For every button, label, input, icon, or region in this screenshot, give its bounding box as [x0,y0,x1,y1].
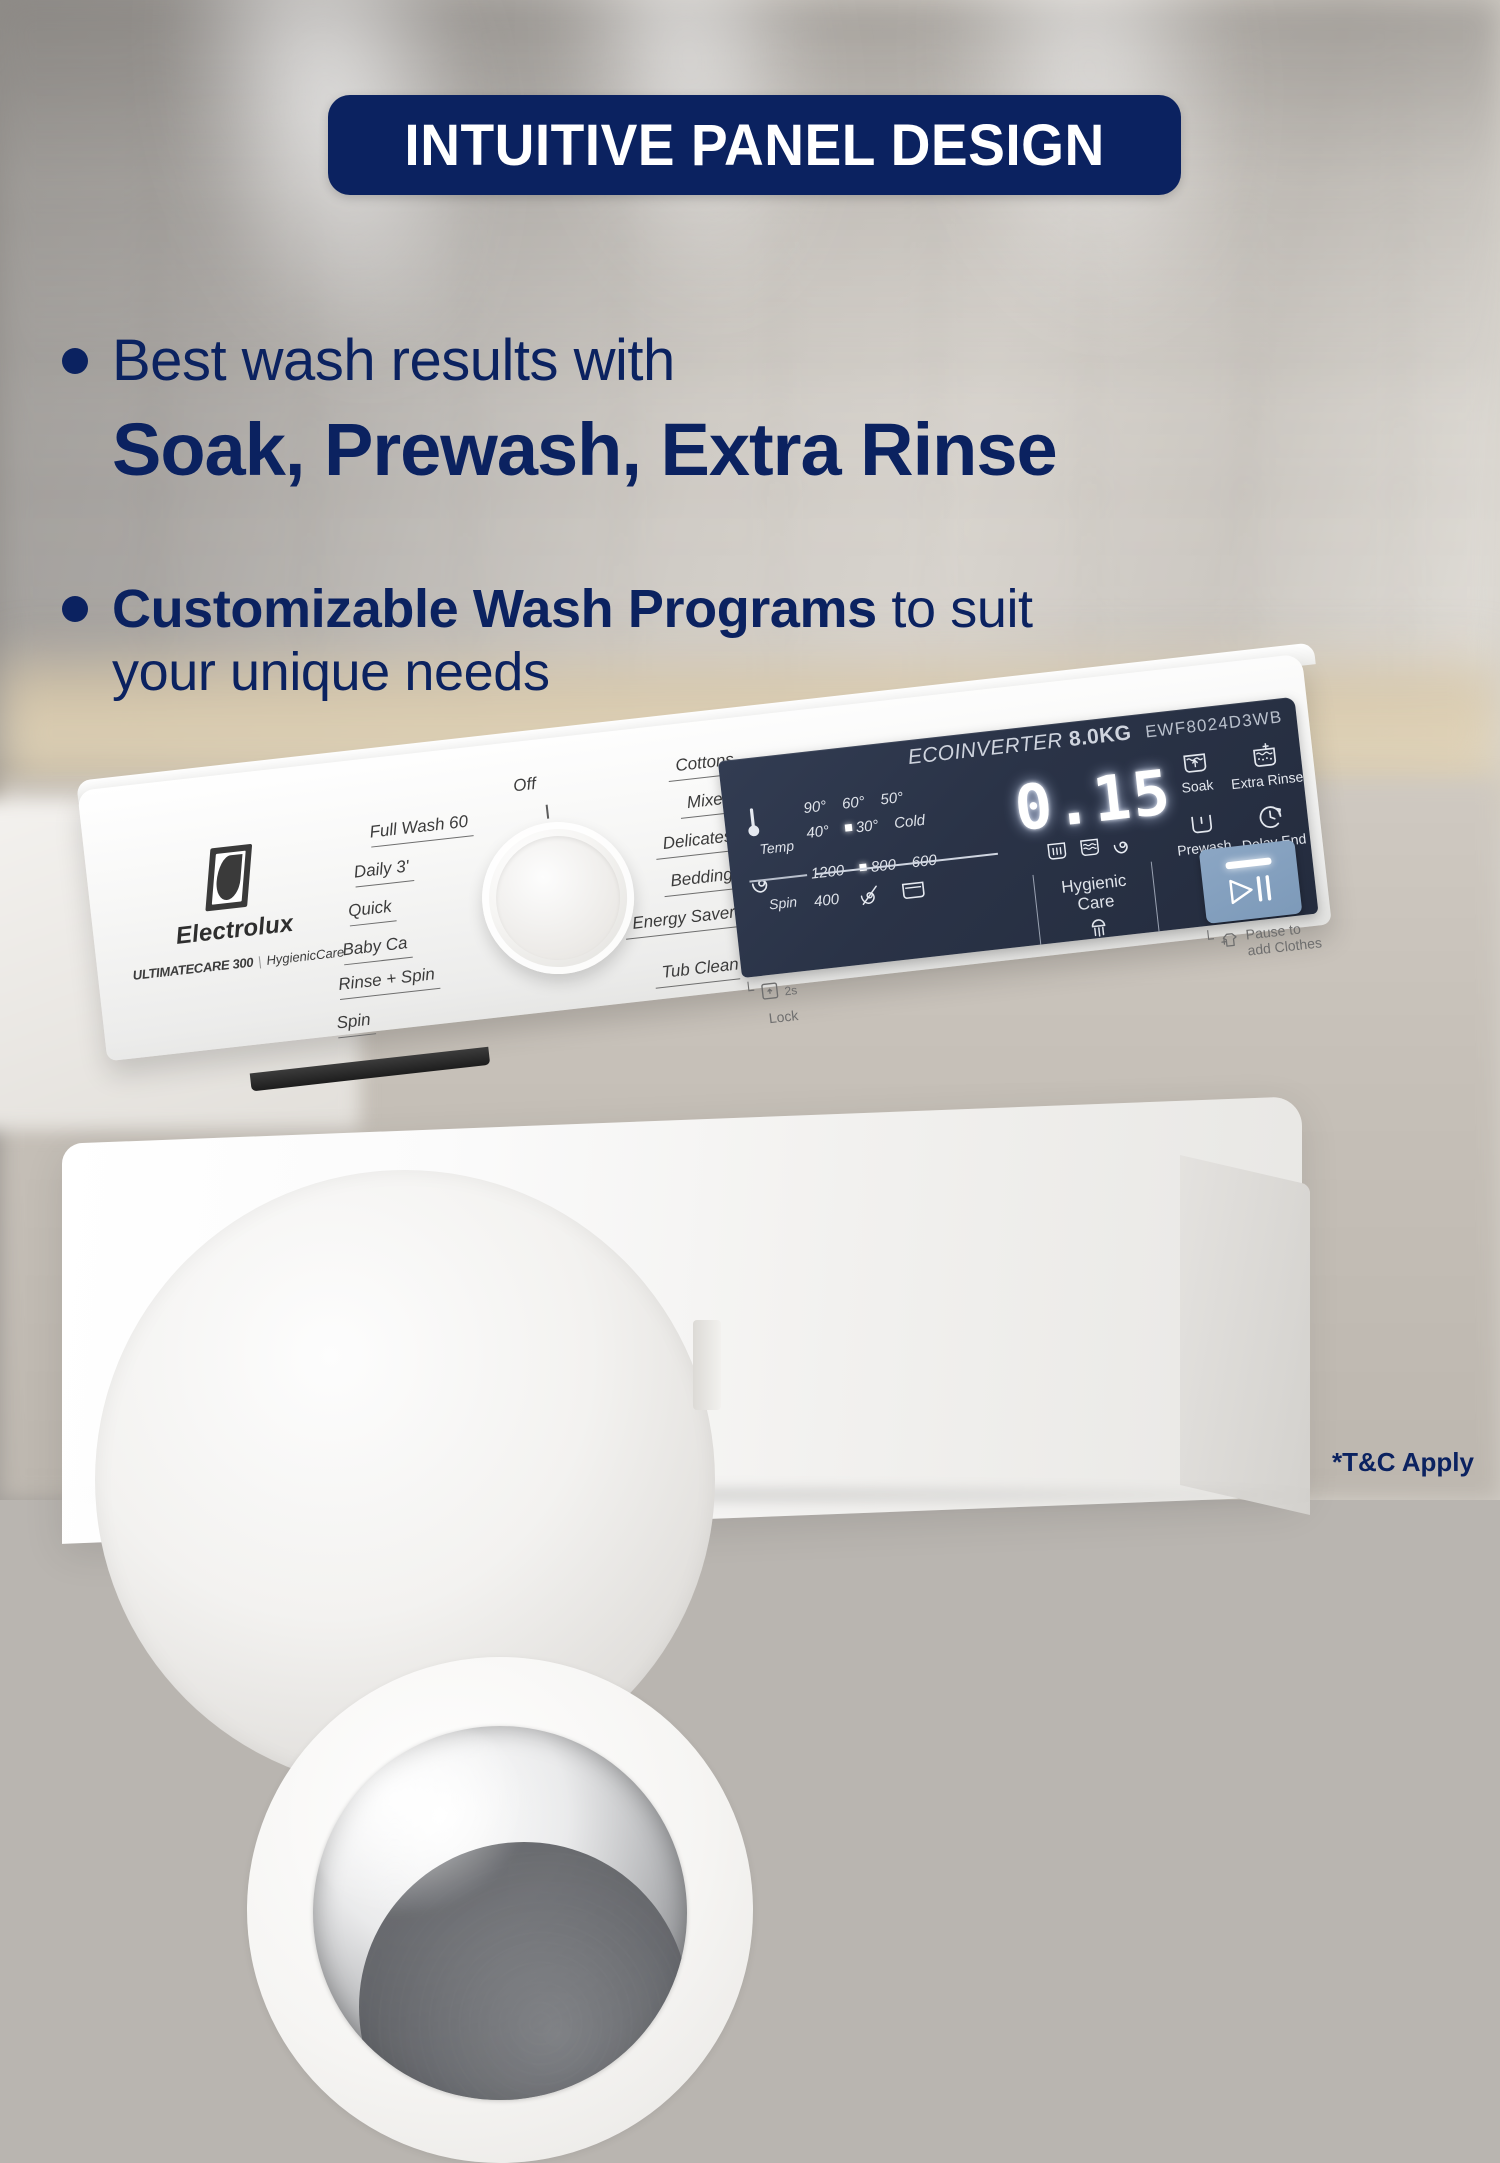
elbow-connector-icon: └ [743,983,755,999]
temp-row[interactable]: Temp 90° 60° 50° 40° 30° Cold [741,779,995,859]
capacity-value: 8.0KG [1068,721,1133,751]
terms-and-conditions: *T&C Apply [1332,1447,1474,1478]
rinse-phase-icon [1078,836,1102,858]
program-label-off[interactable]: Off [512,774,537,796]
temp-option-30-selected[interactable]: 30° [844,817,879,838]
bullet-1-line-1: Best wash results with [112,330,1057,393]
extra-rinse-label: Extra Rinse [1230,768,1304,792]
temp-option-90[interactable]: 90° [803,798,827,817]
no-spin-icon[interactable] [858,883,882,907]
program-label-daily[interactable]: Daily 3' [353,857,410,883]
temp-option-60[interactable]: 60° [841,793,865,812]
bullet-2-rest: to suit [877,579,1033,639]
brand-divider: | [257,954,262,969]
spin-button[interactable]: Spin [748,866,814,915]
program-label-rinse-spin[interactable]: Rinse + Spin [337,964,436,995]
play-pause-icon [1224,871,1279,907]
thermometer-icon [741,805,765,841]
spin-phase-icon [1111,833,1135,857]
add-clothes-label: Pause to add Clothes [1245,919,1323,958]
program-label-energy-saver[interactable]: Energy Saver [631,903,736,934]
bullet-2-line-1: Customizable Wash Programs to suit [112,578,1033,642]
brand-series: ULTIMATECARE 300 [132,954,254,982]
soak-label: Soak [1163,774,1232,797]
soak-button[interactable]: Soak [1160,747,1232,800]
hygienic-care-button[interactable]: Hygienic Care [1032,862,1160,951]
soak-icon [1178,749,1211,778]
page-title: INTUITIVE PANEL DESIGN [404,112,1104,179]
time-display: 0.15 [1012,765,1161,867]
spin-option-400[interactable]: 400 [813,890,840,910]
bullet-dot-icon [62,348,88,374]
brand-plate: Electrolux ULTIMATECARE 300|HygienicCare [111,834,354,984]
program-label-tub-clean[interactable]: Tub Clean [661,954,740,982]
eco-label: ECO [907,741,956,769]
bullet-1-line-2: Soak, Prewash, Extra Rinse [112,409,1057,492]
program-label-full-wash[interactable]: Full Wash 60 [369,812,470,843]
electrolux-logo-icon [205,844,252,912]
temp-button[interactable]: Temp [741,800,808,859]
inverter-label: INVERTER [953,729,1064,764]
bullet-1-text: Best wash results with Soak, Prewash, Ex… [112,330,1057,492]
lock-duration: 2s [784,983,798,998]
program-label-spin[interactable]: Spin [336,1010,372,1034]
machine-door-bezel [95,1170,715,1790]
elbow-connector-icon: └ [1203,931,1215,947]
lock-icon [758,980,780,1002]
temp-option-cold[interactable]: Cold [893,812,926,832]
header-banner: INTUITIVE PANEL DESIGN [328,95,1181,195]
temp-spin-group: Temp 90° 60° 50° 40° 30° Cold [741,779,1002,919]
add-clothes-hint[interactable]: └ Pause to add Clothes [1203,919,1323,963]
temp-option-30-label: 30° [855,817,879,836]
steam-icon [1082,912,1115,941]
detergent-drawer[interactable] [250,1047,491,1092]
temp-values: 90° 60° 50° 40° 30° Cold [803,779,995,842]
dial-off-tick-icon [546,805,550,819]
program-label-baby-care[interactable]: Baby Ca [341,933,408,960]
brand-feature: HygienicCare [266,944,345,968]
temp-option-50[interactable]: 50° [880,789,904,808]
temp-option-40[interactable]: 40° [805,822,829,841]
bullet-2-strong: Customizable Wash Programs [112,579,877,639]
start-button-indicator [1225,857,1271,869]
washing-machine-product-image: Electrolux ULTIMATECARE 300|HygienicCare… [0,740,1500,1500]
delay-end-icon [1255,802,1288,833]
selected-indicator-icon [844,824,852,832]
machine-side-panel [1180,1155,1310,1515]
list-item: Best wash results with Soak, Prewash, Ex… [62,330,1362,492]
start-pause-button[interactable] [1199,840,1303,924]
program-label-quick[interactable]: Quick [347,897,392,922]
prewash-icon [1185,810,1218,839]
program-selector-zone: Off Full Wash 60 Daily 3' Quick Baby Ca … [338,757,732,1029]
lock-label: Lock [768,1008,799,1027]
rinse-hold-icon[interactable] [899,879,927,902]
extra-rinse-button[interactable]: Extra Rinse [1227,738,1304,792]
machine-door-glass[interactable] [313,1726,687,2100]
program-label-bedding[interactable]: Bedding [669,865,733,892]
lock-hint[interactable]: └ 2s Lock [743,978,799,1015]
bullet-dot-icon [62,596,88,622]
add-clothes-icon [1218,928,1242,950]
wash-phase-icon [1045,840,1069,862]
model-number: EWF8024D3WB [1144,707,1283,742]
program-selector-knob[interactable] [474,814,642,982]
extra-rinse-icon [1247,741,1282,772]
program-label-delicates[interactable]: Delicates [662,826,734,854]
time-display-value: 0.15 [1012,765,1158,839]
spin-spiral-icon [748,870,775,897]
door-handle[interactable] [693,1320,721,1410]
